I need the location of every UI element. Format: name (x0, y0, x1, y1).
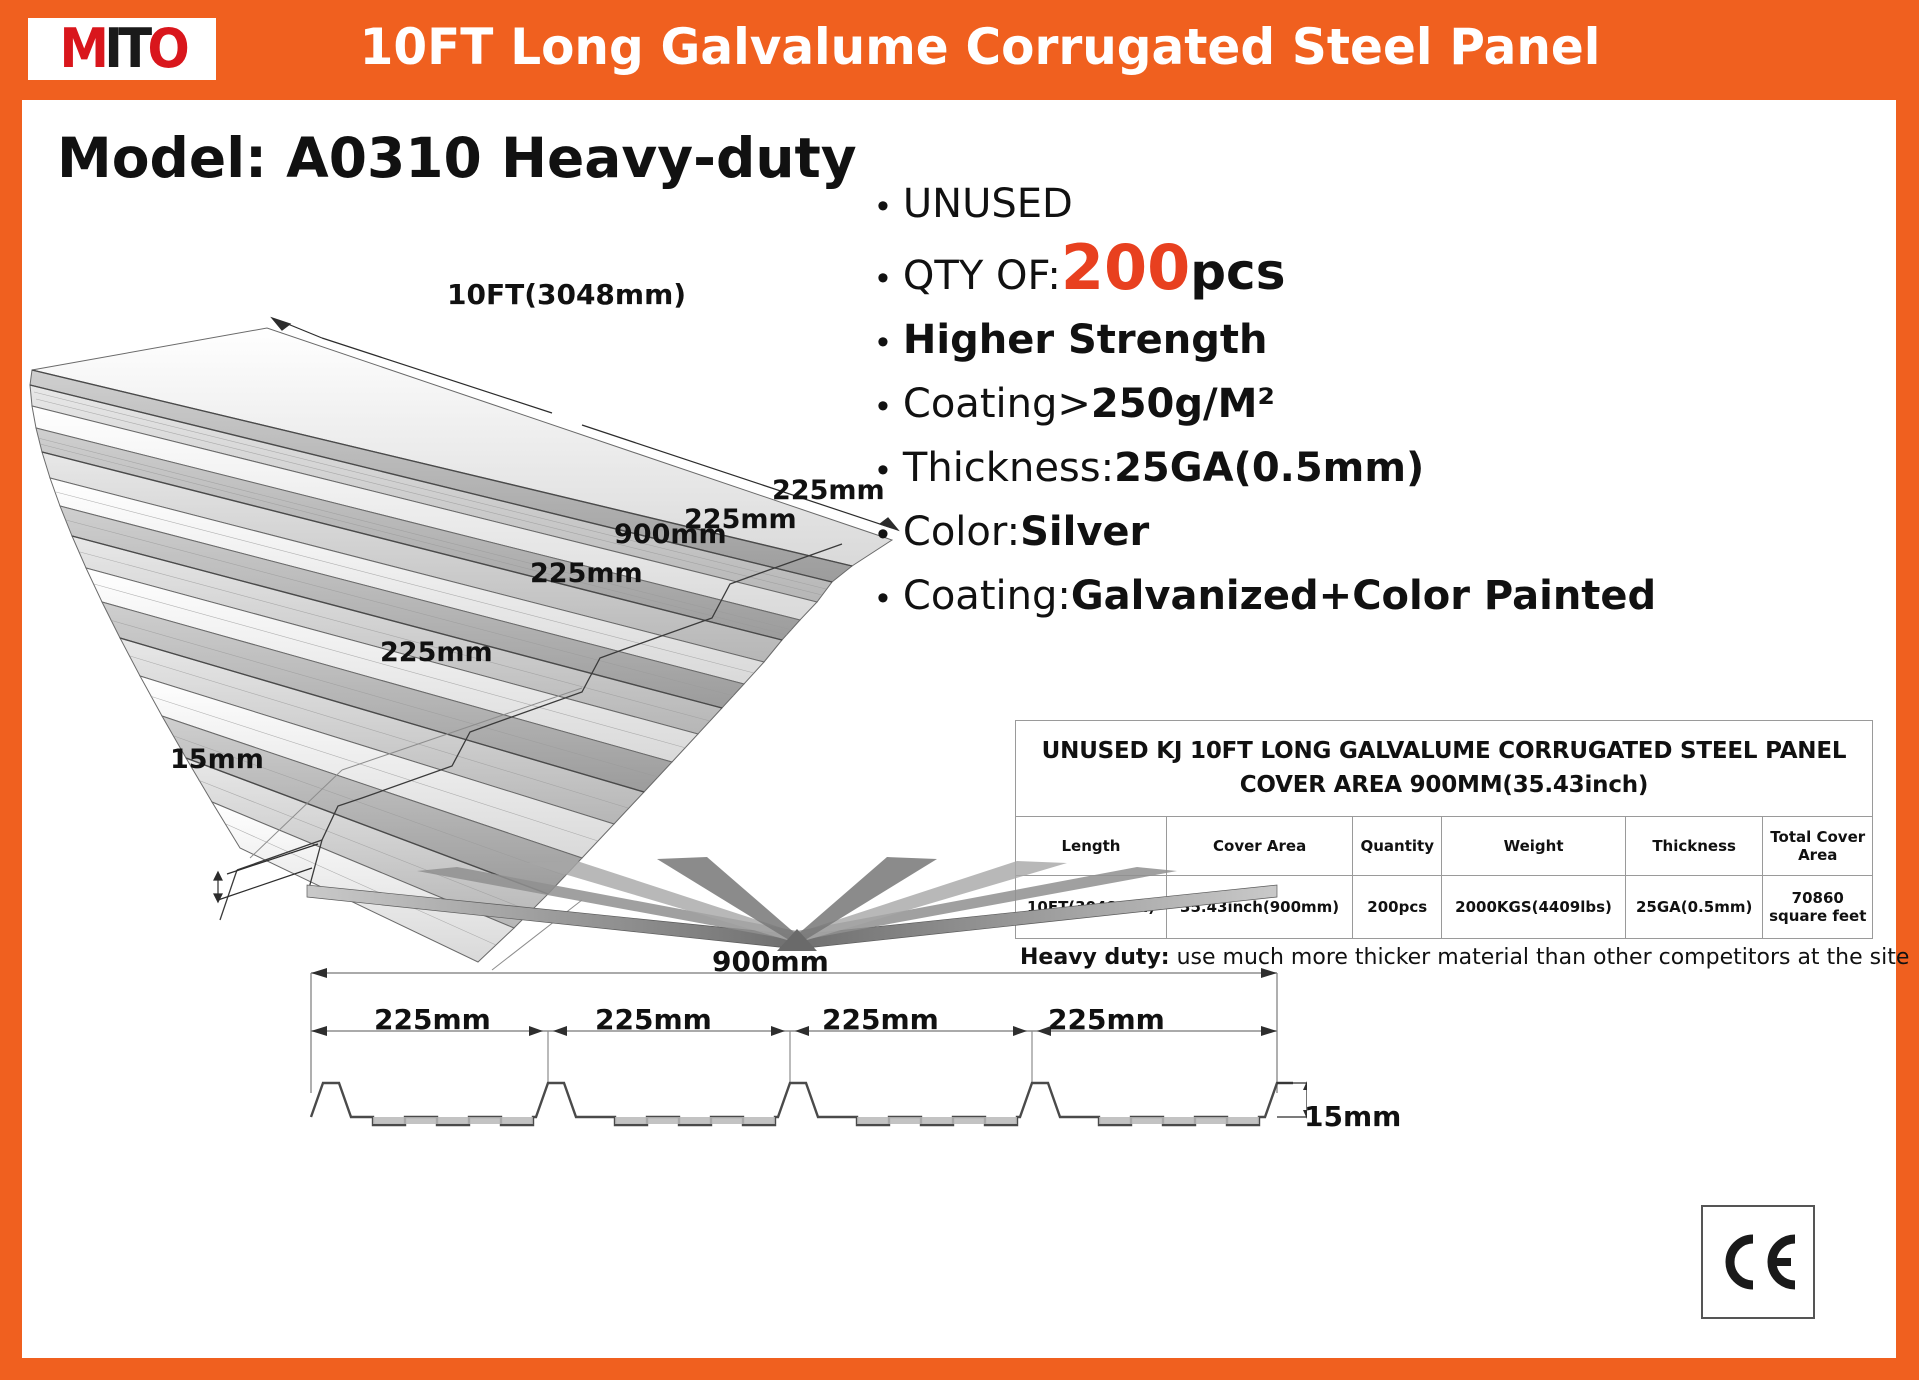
content-card: Model: A0310 Heavy-duty (22, 100, 1896, 1358)
bullet-coating-weight-label: Coating> (903, 375, 1091, 433)
section-dim-total: 900mm (712, 945, 829, 978)
bullet-dot-icon: • (877, 261, 889, 295)
th-thickness: Thickness (1625, 817, 1763, 876)
bullet-color-label: Color: (903, 503, 1020, 561)
ce-mark (1701, 1205, 1815, 1319)
bullet-dot-icon: • (877, 389, 889, 423)
bullet-thickness-value: 25GA(0.5mm) (1114, 439, 1424, 497)
product-spec-sheet: MITO 10FT Long Galvalume Corrugated Stee… (0, 0, 1919, 1380)
bullet-coating-weight-value: 250g/M² (1091, 375, 1275, 433)
bullet-unused-label: UNUSED (903, 175, 1073, 233)
section-dim-seg-1: 225mm (374, 1003, 491, 1036)
bullet-dot-icon: • (877, 453, 889, 487)
bullet-dot-icon: • (877, 581, 889, 615)
iso-dim-rib-2: 225mm (684, 504, 797, 535)
bullet-strength: • Higher Strength (877, 311, 1877, 369)
logo-text: MITO (59, 22, 185, 76)
bullet-coating-type-label: Coating: (903, 567, 1071, 625)
cross-section-svg (277, 845, 1307, 1145)
table-title-row: UNUSED KJ 10FT LONG GALVALUME CORRUGATED… (1016, 721, 1873, 817)
th-quantity: Quantity (1353, 817, 1442, 876)
bullet-qty-label: QTY OF: (903, 247, 1061, 305)
bullet-color-value: Silver (1020, 503, 1149, 561)
iso-dim-length: 10FT(3048mm) (447, 278, 686, 311)
bullet-dot-icon: • (877, 517, 889, 551)
bullet-coating-type-value: Galvanized+Color Painted (1071, 567, 1656, 625)
bullet-coating-type: • Coating: Galvanized+Color Painted (877, 567, 1877, 625)
section-dim-height: 15mm (1304, 1100, 1401, 1133)
page-title: 10FT Long Galvalume Corrugated Steel Pan… (272, 14, 1688, 80)
bullet-thickness-label: Thickness: (903, 439, 1114, 497)
bullet-unused: • UNUSED (877, 175, 1877, 233)
header-bar: MITO 10FT Long Galvalume Corrugated Stee… (0, 0, 1919, 102)
spec-table-title: UNUSED KJ 10FT LONG GALVALUME CORRUGATED… (1016, 721, 1873, 817)
bullet-thickness: • Thickness: 25GA(0.5mm) (877, 439, 1877, 497)
cross-section-drawing (277, 845, 1307, 1145)
td-quantity: 200pcs (1353, 876, 1442, 939)
td-weight: 2000KGS(4409lbs) (1442, 876, 1626, 939)
bullet-coating-weight: • Coating> 250g/M² (877, 375, 1877, 433)
ce-mark-icon (1715, 1230, 1801, 1294)
th-total-cover-area: Total Cover Area (1763, 817, 1873, 876)
th-weight: Weight (1442, 817, 1626, 876)
logo-letter-m: M (59, 18, 104, 80)
bullet-qty-unit: pcs (1190, 243, 1285, 301)
model-heading: Model: A0310 Heavy-duty (57, 125, 857, 191)
iso-dim-height: 15mm (170, 744, 264, 775)
company-logo: MITO (28, 18, 216, 80)
iso-dim-rib-4: 225mm (380, 637, 493, 668)
bullet-dot-icon: • (877, 325, 889, 359)
bullet-color: • Color: Silver (877, 503, 1877, 561)
bullet-dot-icon: • (877, 189, 889, 223)
iso-dim-rib-1: 225mm (772, 475, 885, 506)
iso-dim-rib-3: 225mm (530, 558, 643, 589)
logo-letter-it: IT (104, 18, 147, 80)
bullet-qty: • QTY OF: 200 pcs (877, 239, 1877, 305)
section-dim-seg-4: 225mm (1048, 1003, 1165, 1036)
section-dim-seg-2: 225mm (595, 1003, 712, 1036)
spec-bullet-list: • UNUSED • QTY OF: 200 pcs • Higher Stre… (877, 175, 1877, 631)
td-thickness: 25GA(0.5mm) (1625, 876, 1763, 939)
section-dim-seg-3: 225mm (822, 1003, 939, 1036)
td-total-cover-area: 70860 square feet (1763, 876, 1873, 939)
bullet-strength-label: Higher Strength (903, 311, 1268, 369)
bullet-qty-value: 200 (1061, 239, 1190, 297)
logo-letter-o: O (147, 18, 185, 80)
